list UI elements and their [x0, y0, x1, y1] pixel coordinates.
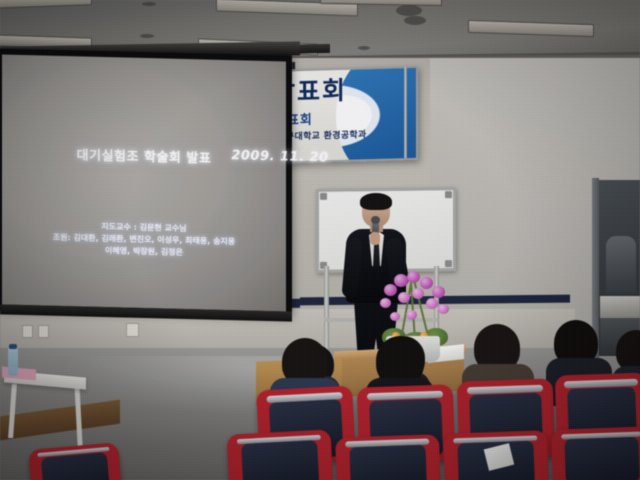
- chair-backrest: [241, 440, 320, 480]
- chair-backrest: [40, 452, 110, 480]
- chair-backrest: [349, 445, 427, 480]
- orchid-bloom: [407, 271, 420, 283]
- orchid-bloom: [380, 298, 391, 308]
- auditorium-chair: [551, 426, 640, 480]
- microphone-head-icon: [371, 216, 380, 224]
- whiteboard-corner: [445, 191, 452, 198]
- banner-rod: [404, 66, 407, 158]
- water-bottle: [8, 348, 18, 376]
- orchid-bloom: [426, 298, 438, 309]
- auditorium-chair: [335, 434, 441, 480]
- orchid-bloom: [406, 310, 417, 320]
- orchid-bloom: [420, 277, 433, 289]
- power-outlet-icon: [22, 325, 33, 338]
- orchid-bloom: [394, 274, 408, 287]
- ceiling-speaker-icon: [396, 5, 422, 16]
- ceiling-vent-icon: [142, 2, 156, 6]
- ceiling-light-icon: [468, 20, 594, 37]
- power-outlet-icon: [126, 323, 139, 337]
- ceiling-speaker-icon: [404, 16, 426, 25]
- ceiling-vent-icon: [358, 46, 370, 50]
- auditorium-chair: [28, 442, 122, 480]
- chair-backrest: [564, 437, 639, 480]
- presentation-photo: 발표회 발표회 : 대구대학교 환경공학과 대기실험조 학술회 발표 2009.…: [0, 0, 640, 480]
- orchid-bloom: [398, 292, 410, 303]
- orchid-bloom: [438, 304, 449, 314]
- orchid-bloom: [384, 284, 397, 296]
- equipment-cart-top: [600, 296, 640, 318]
- whiteboard-corner: [445, 260, 452, 267]
- power-outlet-icon: [38, 325, 49, 338]
- whiteboard-corner: [320, 193, 327, 200]
- orchid-bloom: [390, 312, 400, 321]
- presenter-hair: [360, 193, 392, 210]
- presenter-hand: [370, 232, 380, 245]
- ceiling-light-icon: [0, 0, 92, 9]
- auditorium-chair: [227, 429, 334, 480]
- bottle-cap: [9, 344, 17, 349]
- ceiling-vent-icon: [140, 34, 154, 38]
- projected-slide: 대기실험조 학술회 발표 2009. 11. 20 지도교수 : 김문현 교수님…: [2, 55, 286, 312]
- orchid-bloom: [412, 288, 424, 299]
- orchid-bloom: [432, 286, 445, 298]
- person-in-doorway: [606, 236, 636, 294]
